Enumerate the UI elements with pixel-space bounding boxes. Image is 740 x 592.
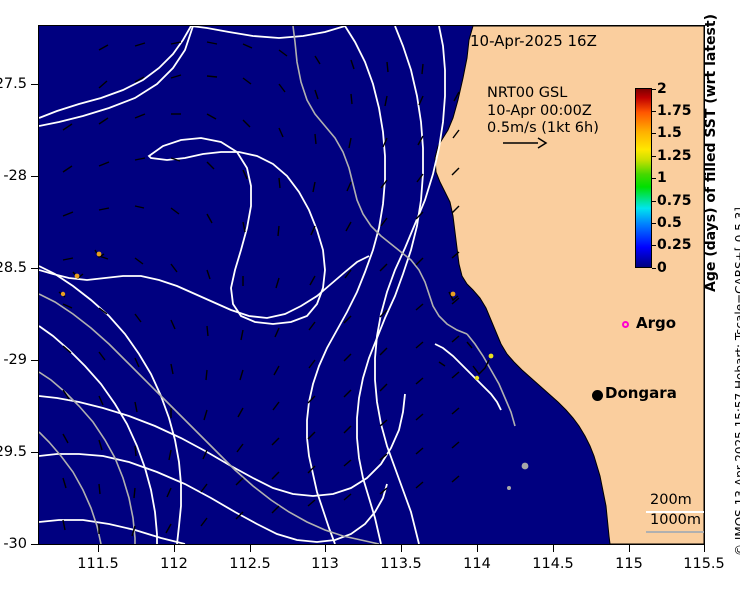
colorbar-title: Age (days) of filled SST (wrt latest) (703, 14, 719, 292)
x-tick-label: 115 (615, 556, 643, 572)
cbar-tick-label: 0.25 (657, 237, 692, 253)
y-tickmark (31, 176, 38, 177)
cbar-tickmark (652, 111, 656, 112)
cbar-tickmark (652, 156, 656, 157)
y-tick-label: -29 (0, 352, 27, 368)
x-tick-label: 115.5 (683, 556, 725, 572)
bathy-legend-line-1000m (646, 531, 704, 533)
y-tick-label: -27.5 (0, 76, 27, 92)
cbar-tick-label: 0 (657, 260, 667, 276)
cbar-tickmark (652, 89, 656, 90)
y-tick-label: -28.5 (0, 260, 27, 276)
cbar-tick-label: 1.5 (657, 125, 682, 141)
x-tick-label: 112.5 (229, 556, 271, 572)
figure-canvas: 10-Apr-2025 16Z NRT00 GSL 10-Apr 00:00Z … (0, 0, 740, 592)
cbar-tick-label: 0.5 (657, 215, 682, 231)
x-tickmark (250, 545, 251, 552)
x-tickmark (553, 545, 554, 552)
y-tickmark (31, 84, 38, 85)
cbar-tick-label: 0.75 (657, 193, 692, 209)
bathy-legend-label-1000m: 1000m (650, 512, 701, 528)
y-tickmark (31, 452, 38, 453)
bathy-legend-label-200m: 200m (650, 492, 692, 508)
x-tick-label: 111.5 (77, 556, 119, 572)
current-anno-line2: 10-Apr 00:00Z (487, 103, 599, 121)
x-tick-label: 113 (311, 556, 339, 572)
x-tick-label: 114.5 (532, 556, 574, 572)
cbar-tickmark (652, 223, 656, 224)
y-tickmark (31, 544, 38, 545)
current-anno-line1: NRT00 GSL (487, 85, 599, 103)
x-tickmark (98, 545, 99, 552)
cbar-tickmark (652, 201, 656, 202)
x-tickmark (174, 545, 175, 552)
argo-legend-marker-icon (622, 321, 629, 328)
x-tickmark (401, 545, 402, 552)
cbar-tickmark (652, 133, 656, 134)
colorbar[interactable] (635, 88, 652, 268)
map-datetime-label: 10-Apr-2025 16Z (470, 32, 597, 50)
x-tickmark (704, 545, 705, 552)
cbar-tickmark (652, 245, 656, 246)
x-tick-label: 113.5 (380, 556, 422, 572)
map-graphics: 10-Apr-2025 16Z (39, 26, 704, 544)
x-tick-label: 114 (463, 556, 491, 572)
cbar-tick-label: 2 (657, 81, 667, 97)
current-anno-line3: 0.5m/s (1kt 6h) (487, 120, 599, 138)
cbar-tick-label: 1.75 (657, 103, 692, 119)
cbar-tick-label: 1.25 (657, 148, 692, 164)
argo-legend-label: Argo (636, 314, 676, 332)
x-tickmark (629, 545, 630, 552)
dongara-marker-icon (592, 390, 603, 401)
map-plot-area[interactable]: 10-Apr-2025 16Z NRT00 GSL 10-Apr 00:00Z … (38, 25, 705, 545)
bathy-legend-line-200m (646, 511, 704, 513)
x-tickmark (477, 545, 478, 552)
reference-velocity-arrow-icon (502, 136, 548, 150)
x-tickmark (325, 545, 326, 552)
y-tick-label: -30 (0, 536, 27, 552)
y-tickmark (31, 268, 38, 269)
cbar-tick-label: 1 (657, 170, 667, 186)
cbar-tickmark (652, 178, 656, 179)
cbar-tickmark (652, 268, 656, 269)
y-tickmark (31, 360, 38, 361)
x-tick-label: 112 (160, 556, 188, 572)
dongara-label: Dongara (605, 384, 677, 402)
y-tick-label: -28 (0, 168, 27, 184)
y-tick-label: -29.5 (0, 444, 27, 460)
credit-text: © IMOS 13-Apr-2025 15:57 Hobart; Tscale=… (733, 207, 740, 556)
current-annotation-block: NRT00 GSL 10-Apr 00:00Z 0.5m/s (1kt 6h) (487, 85, 599, 138)
